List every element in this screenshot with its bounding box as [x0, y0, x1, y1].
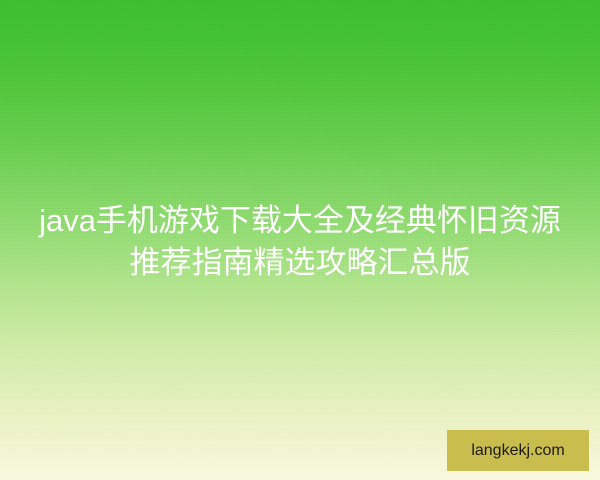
watermark-label: langkekj.com — [471, 443, 564, 459]
watermark-badge: langkekj.com — [447, 430, 589, 471]
banner-title: java手机游戏下载大全及经典怀旧资源推荐指南精选攻略汇总版 — [0, 200, 600, 284]
banner-image: java手机游戏下载大全及经典怀旧资源推荐指南精选攻略汇总版 langkekj.… — [0, 0, 600, 480]
